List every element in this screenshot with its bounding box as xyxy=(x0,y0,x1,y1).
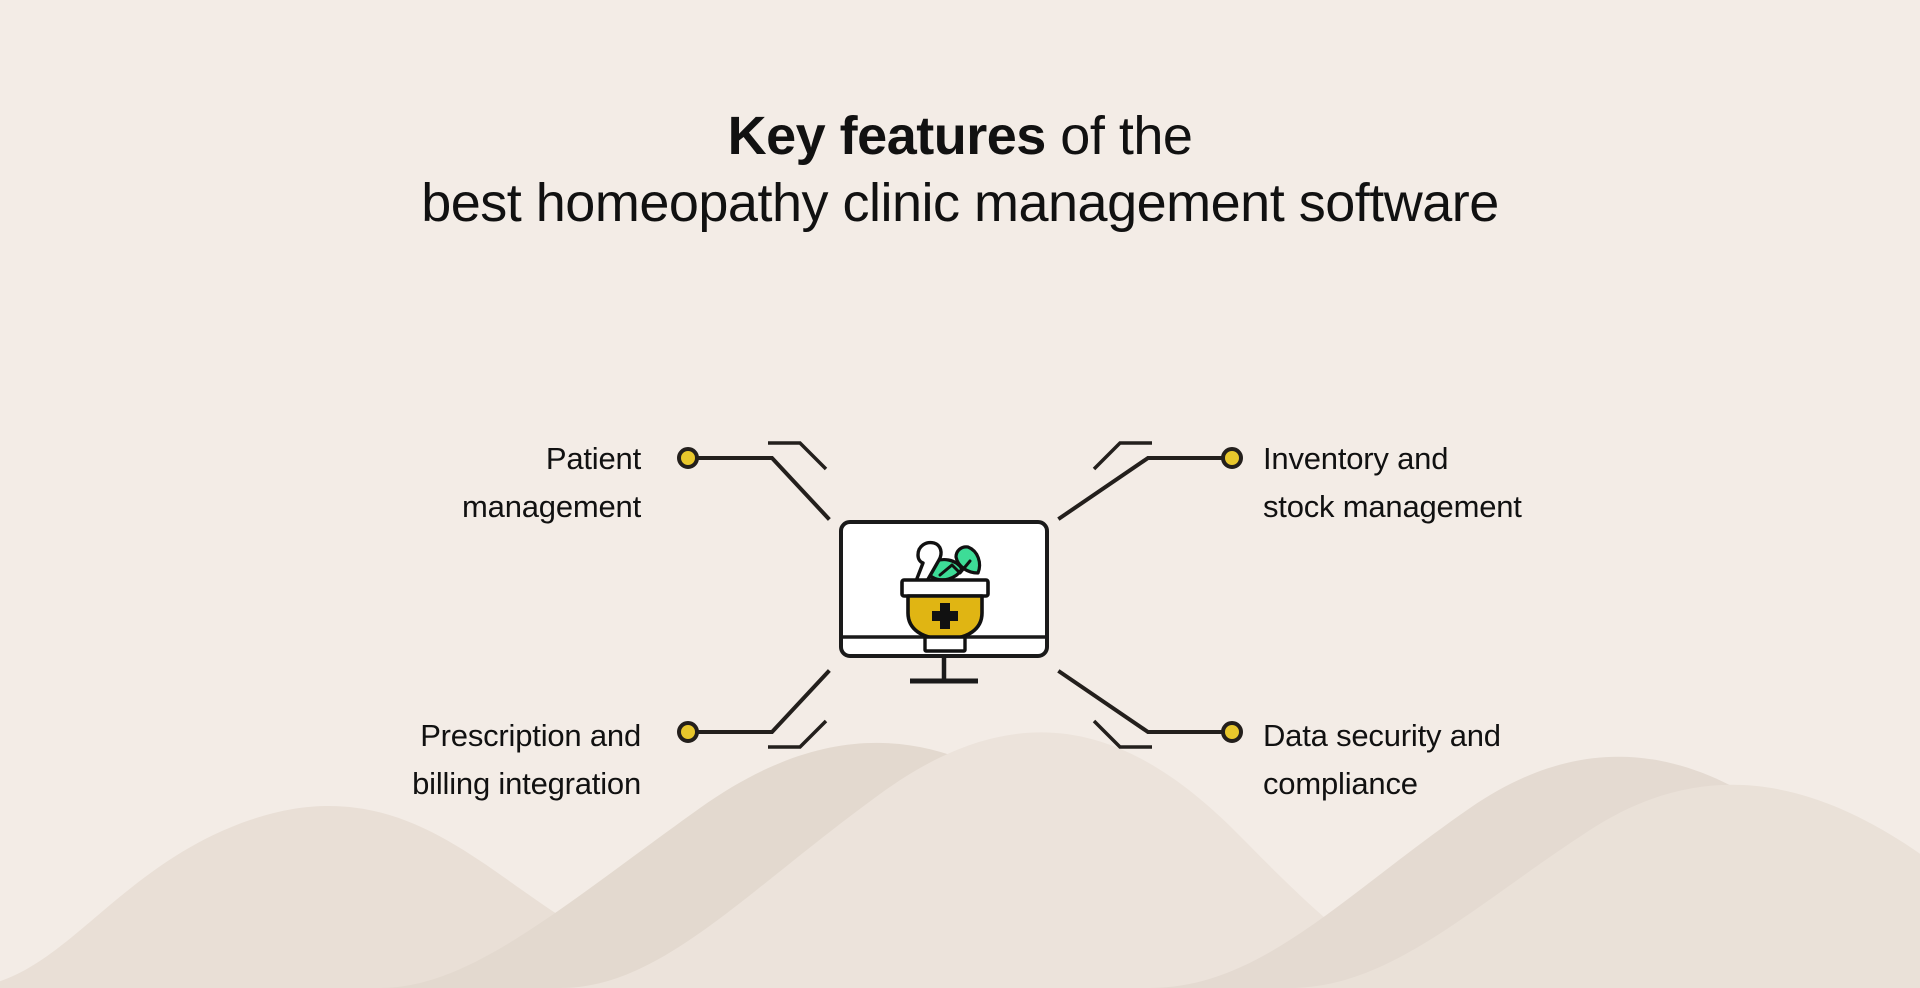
feature-label-line: Data security and xyxy=(1263,712,1501,760)
feature-label-line: management xyxy=(462,483,641,531)
connector-accent-top-left xyxy=(768,443,826,469)
title-line-1: Key features of the xyxy=(0,104,1920,168)
connector-line-top-right xyxy=(1060,458,1223,518)
feature-label-line: Prescription and xyxy=(412,712,641,760)
feature-label-inventory-stock-management: Inventory and stock management xyxy=(1263,435,1522,531)
title-line-2: best homeopathy clinic management softwa… xyxy=(0,168,1920,238)
connector-dot-top-left xyxy=(679,449,697,467)
wave-shape-left-light xyxy=(0,806,760,988)
connector-dot-bottom-left xyxy=(679,723,697,741)
feature-label-line: stock management xyxy=(1263,483,1522,531)
connector-dot-bottom-right xyxy=(1223,723,1241,741)
connector-accent-bottom-right xyxy=(1094,721,1152,747)
wave-shape-right-light xyxy=(1290,785,1920,988)
feature-label-line: compliance xyxy=(1263,760,1501,808)
connector-top-right xyxy=(1060,443,1241,518)
title-remainder: of the xyxy=(1046,106,1193,166)
feature-label-data-security-compliance: Data security and compliance xyxy=(1263,712,1501,808)
mortar-foot xyxy=(925,637,965,651)
connector-line-bottom-right xyxy=(1060,672,1223,732)
connector-accent-bottom-left xyxy=(768,721,826,747)
page-title: Key features of the best homeopathy clin… xyxy=(0,104,1920,238)
mortar-rim xyxy=(902,580,988,596)
monitor-icon xyxy=(838,519,1050,691)
connector-bottom-left xyxy=(679,672,828,747)
connector-top-left xyxy=(679,443,828,518)
title-emphasis: Key features xyxy=(728,106,1046,166)
feature-label-prescription-billing-integration: Prescription and billing integration xyxy=(412,712,641,808)
feature-label-patient-management: Patient management xyxy=(462,435,641,531)
connector-bottom-right xyxy=(1060,672,1241,747)
connector-line-top-left xyxy=(697,458,828,518)
connector-accent-top-right xyxy=(1094,443,1152,469)
connector-dot-top-right xyxy=(1223,449,1241,467)
background-waves xyxy=(0,658,1920,988)
feature-label-line: billing integration xyxy=(412,760,641,808)
feature-label-line: Inventory and xyxy=(1263,435,1522,483)
connector-line-bottom-left xyxy=(697,672,828,732)
feature-label-line: Patient xyxy=(462,435,641,483)
